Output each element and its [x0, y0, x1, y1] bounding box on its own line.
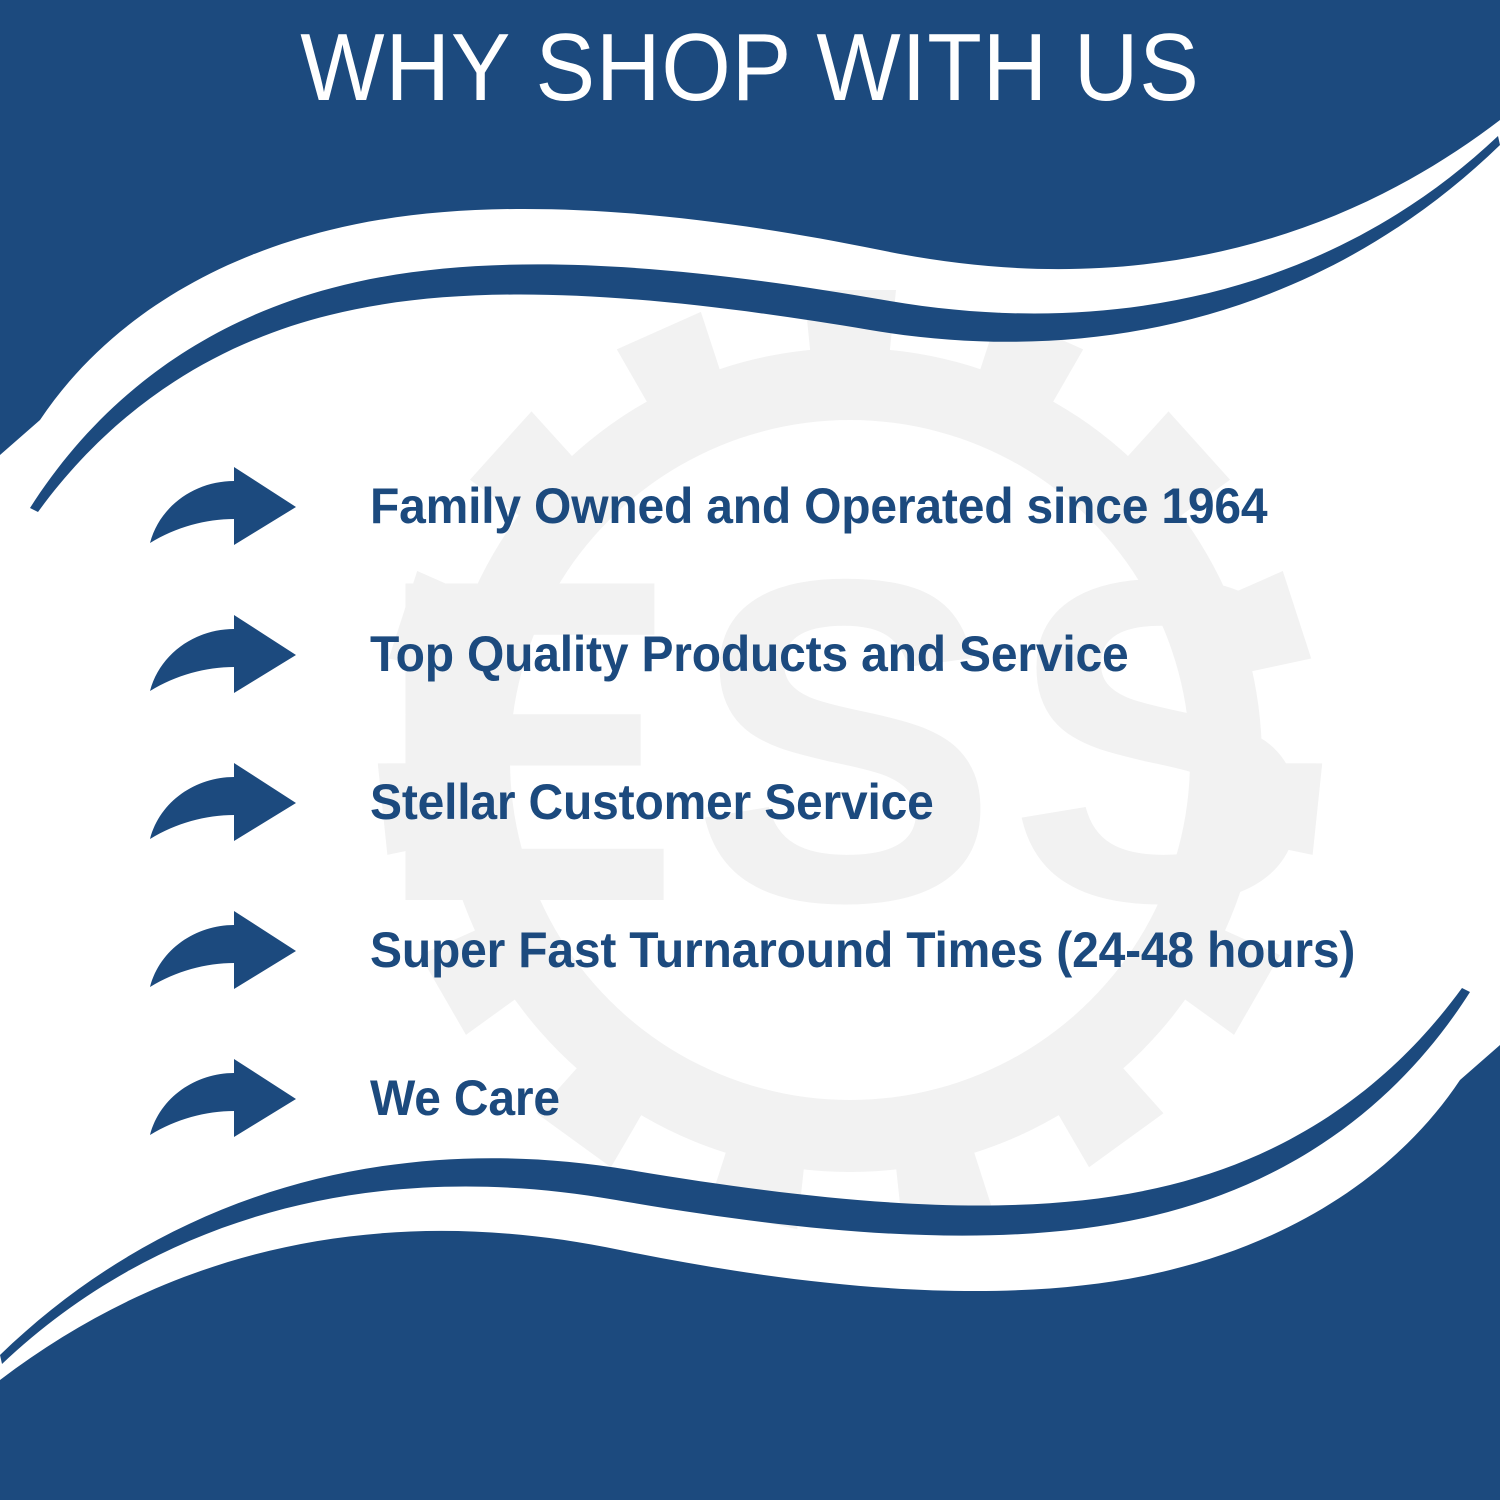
list-item: Stellar Customer Service — [0, 728, 1500, 876]
benefits-list: Family Owned and Operated since 1964 Top… — [0, 432, 1500, 1172]
why-shop-with-us-poster: ESS WHY SHOP WITH US Family Owned and Op… — [0, 0, 1500, 1500]
list-item: We Care — [0, 1024, 1500, 1172]
benefit-label: Super Fast Turnaround Times (24-48 hours… — [370, 924, 1355, 977]
curved-arrow-icon — [148, 465, 308, 547]
benefit-label: Stellar Customer Service — [370, 776, 934, 829]
curved-arrow-icon — [148, 761, 308, 843]
benefit-label: Top Quality Products and Service — [370, 628, 1128, 681]
benefit-label: Family Owned and Operated since 1964 — [370, 480, 1267, 533]
curved-arrow-icon — [148, 613, 308, 695]
curved-arrow-icon — [148, 909, 308, 991]
list-item: Top Quality Products and Service — [0, 580, 1500, 728]
benefit-label: We Care — [370, 1072, 560, 1125]
curved-arrow-icon — [148, 1057, 308, 1139]
list-item: Super Fast Turnaround Times (24-48 hours… — [0, 876, 1500, 1024]
list-item: Family Owned and Operated since 1964 — [0, 432, 1500, 580]
page-title: WHY SHOP WITH US — [53, 20, 1448, 116]
